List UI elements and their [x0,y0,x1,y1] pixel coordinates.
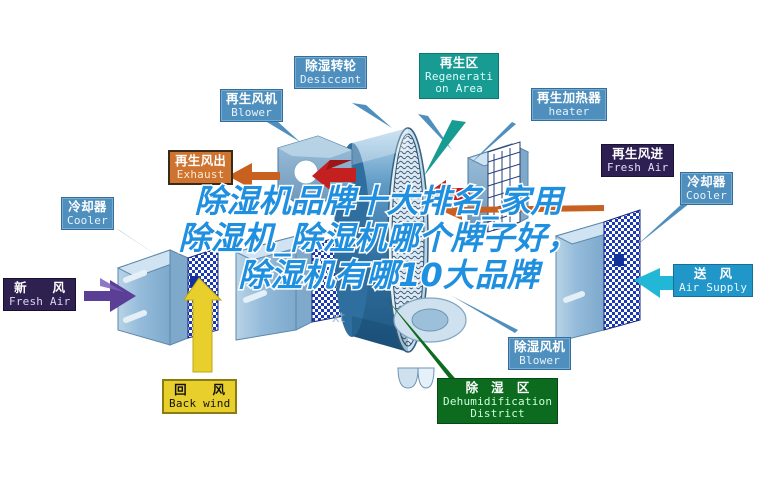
label-regeneration-area-cn: 再生区 [425,56,493,70]
label-cooler-right[interactable]: 冷却器 Cooler [680,172,733,205]
arrow-regen-red-right [426,180,470,208]
svg-text:xt: xt [332,311,345,326]
label-cooler-left-en: Cooler [67,215,108,227]
label-regeneration-area-en-2: on Area [425,83,493,95]
regeneration-heater-unit [468,142,528,236]
dehumidify-section [236,236,344,340]
diagram-canvas: xt [0,0,757,488]
label-regeneration-fresh-air-in[interactable]: 再生风进 Fresh Air [601,144,674,177]
label-fresh-air-in-en: Fresh Air [9,296,70,308]
label-dehumidify-blower[interactable]: 除湿风机 Blower [508,337,571,370]
label-regeneration-area-en-1: Regenerati [425,71,493,83]
label-dehumidification-district-cn: 除 湿 区 [443,381,552,395]
label-cooler-right-cn: 冷却器 [686,175,727,189]
label-regeneration-blower-en: Blower [226,107,277,119]
label-regeneration-area[interactable]: 再生区 Regenerati on Area [419,53,499,99]
label-dehumidify-blower-cn: 除湿风机 [514,340,565,354]
label-air-supply-cn: 送 风 [679,267,747,281]
label-regeneration-heater-cn: 再生加热器 [537,91,601,105]
label-regeneration-fresh-air-in-cn: 再生风进 [607,147,668,161]
label-dehumidify-blower-en: Blower [514,355,565,367]
label-desiccant-rotor-en: Desiccant [300,74,361,86]
label-cooler-left[interactable]: 冷却器 Cooler [61,197,114,230]
label-exhaust[interactable]: 再生风出 Exhaust [168,150,233,185]
label-regeneration-blower-cn: 再生风机 [226,92,277,106]
label-dehumidification-district[interactable]: 除 湿 区 Dehumidification District [437,378,558,424]
label-fresh-air-in[interactable]: 新 风 Fresh Air [3,278,76,311]
label-exhaust-cn: 再生风出 [175,154,226,168]
label-desiccant-rotor[interactable]: 除湿转轮 Desiccant [294,56,367,89]
label-dehumidification-district-en-1: Dehumidification [443,396,552,408]
label-cooler-left-cn: 冷却器 [67,200,108,214]
label-back-wind-cn: 回 风 [169,383,230,397]
label-cooler-right-en: Cooler [686,190,727,202]
label-regeneration-fresh-air-in-en: Fresh Air [607,162,668,174]
label-air-supply-en: Air Supply [679,282,747,294]
label-back-wind-en: Back wind [169,398,230,410]
label-regeneration-heater-en: heater [537,106,601,118]
label-back-wind[interactable]: 回 风 Back wind [162,379,237,414]
label-regeneration-heater[interactable]: 再生加热器 heater [531,88,607,121]
supply-section [394,210,640,342]
label-fresh-air-in-cn: 新 风 [9,281,70,295]
label-desiccant-rotor-cn: 除湿转轮 [300,59,361,73]
label-regeneration-blower[interactable]: 再生风机 Blower [220,89,283,122]
label-exhaust-en: Exhaust [175,169,226,181]
dehumidifier-schematic: xt [0,0,757,488]
label-air-supply[interactable]: 送 风 Air Supply [673,264,753,297]
arrow-exhaust-out [228,163,280,189]
label-dehumidification-district-en-2: District [443,408,552,420]
